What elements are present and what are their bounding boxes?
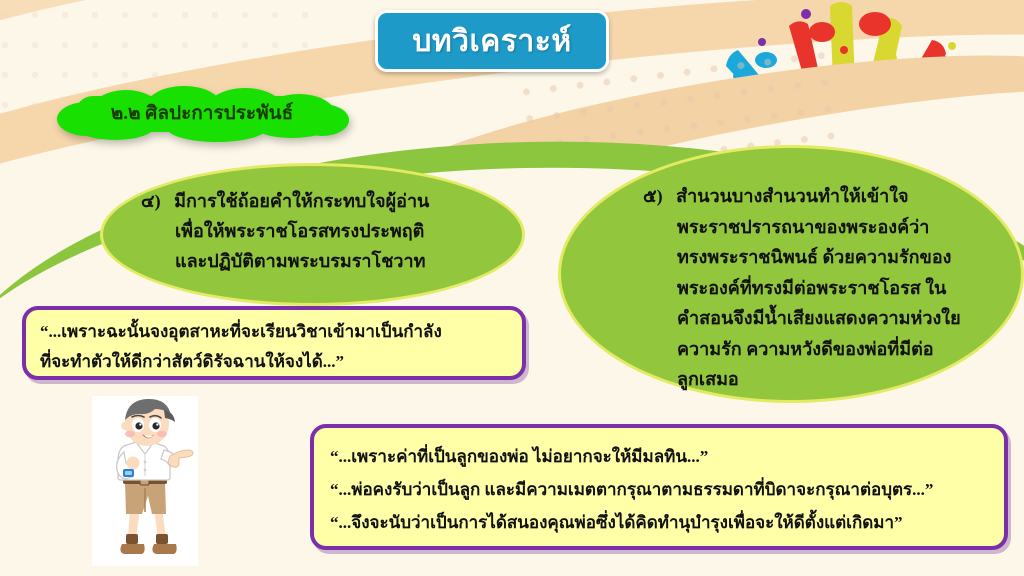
point-4-text: ๔) มีการใช้ถ้อยคำให้กระทบใจผู้อ่าน เพื่อ… xyxy=(141,186,501,276)
point-5-line-1: ๕) สำนวนบางสำนวนทำให้เข้าใจ xyxy=(643,181,1003,212)
quote-top-line-2: ที่จะทำตัวให้ดีกว่าสัตว์ดิรัจฉานให้จงได้… xyxy=(40,347,442,377)
point-5-line-1-text: สำนวนบางสำนวนทำให้เข้าใจ xyxy=(676,186,908,206)
thai-schoolboy-pointing-icon xyxy=(92,396,198,566)
quote-bottom-text: “...เพราะค่าที่เป็นลูกของพ่อ ไม่อยากจะให… xyxy=(330,440,933,539)
point-ellipse-4: ๔) มีการใช้ถ้อยคำให้กระทบใจผู้อ่าน เพื่อ… xyxy=(100,163,525,306)
presentation-slide: บทวิเคราะห์ ๒.๒ ศิลปะการประพันธ์ ๔) มีกา… xyxy=(0,0,1024,576)
quote-bottom-line-3: “...จึงจะนับว่าเป็นการได้สนองคุณพ่อซึ่งไ… xyxy=(330,506,933,539)
point-5-line-7: ลูกเสมอ xyxy=(643,364,1003,395)
paint-splatter-floral-burst-icon xyxy=(694,0,1024,168)
point-5-line-3: ทรงพระราชนิพนธ์ ด้วยความรักของ xyxy=(643,242,1003,273)
quote-top-line-1: “...เพราะฉะนั้นจงอุตสาหะที่จะเรียนวิชาเข… xyxy=(40,317,442,347)
point-4-number: ๔) xyxy=(141,191,161,211)
point-5-line-5: คำสอนจึงมีน้ำเสียงแสดงความห่วงใย xyxy=(643,303,1003,334)
section-badge: ๒.๒ ศิลปะการประพันธ์ xyxy=(57,88,347,138)
slide-title-box: บทวิเคราะห์ xyxy=(375,10,609,72)
burst-svg xyxy=(694,0,1024,168)
schoolboy-svg xyxy=(92,396,198,566)
section-badge-label: ๒.๒ ศิลปะการประพันธ์ xyxy=(57,88,347,138)
quote-bottom-line-1: “...เพราะค่าที่เป็นลูกของพ่อ ไม่อยากจะให… xyxy=(330,440,933,473)
point-5-number: ๕) xyxy=(643,186,663,206)
quote-bottom-line-2: “...พ่อคงรับว่าเป็นลูก และมีความเมตตากรุ… xyxy=(330,473,933,506)
point-5-line-4: พระองค์ที่ทรงมีต่อพระราชโอรส ใน xyxy=(643,273,1003,304)
page-title: บทวิเคราะห์ xyxy=(412,18,571,65)
point-5-text: ๕) สำนวนบางสำนวนทำให้เข้าใจ พระราชปรารถน… xyxy=(643,181,1003,395)
point-5-line-6: ความรัก ความหวังดีของพ่อที่มีต่อ xyxy=(643,334,1003,365)
quote-top-text: “...เพราะฉะนั้นจงอุตสาหะที่จะเรียนวิชาเข… xyxy=(40,317,442,377)
point-4-line-1: ๔) มีการใช้ถ้อยคำให้กระทบใจผู้อ่าน xyxy=(141,186,501,216)
quote-box-top: “...เพราะฉะนั้นจงอุตสาหะที่จะเรียนวิชาเข… xyxy=(22,306,526,380)
point-4-line-3: และปฏิบัติตามพระบรมราโชวาท xyxy=(141,246,501,276)
point-4-line-1-text: มีการใช้ถ้อยคำให้กระทบใจผู้อ่าน xyxy=(174,191,429,211)
point-ellipse-5: ๕) สำนวนบางสำนวนทำให้เข้าใจ พระราชปรารถน… xyxy=(558,145,1024,403)
point-5-line-2: พระราชปรารถนาของพระองค์ว่า xyxy=(643,212,1003,243)
quote-box-bottom: “...เพราะค่าที่เป็นลูกของพ่อ ไม่อยากจะให… xyxy=(310,424,1008,550)
point-4-line-2: เพื่อให้พระราชโอรสทรงประพฤติ xyxy=(141,216,501,246)
